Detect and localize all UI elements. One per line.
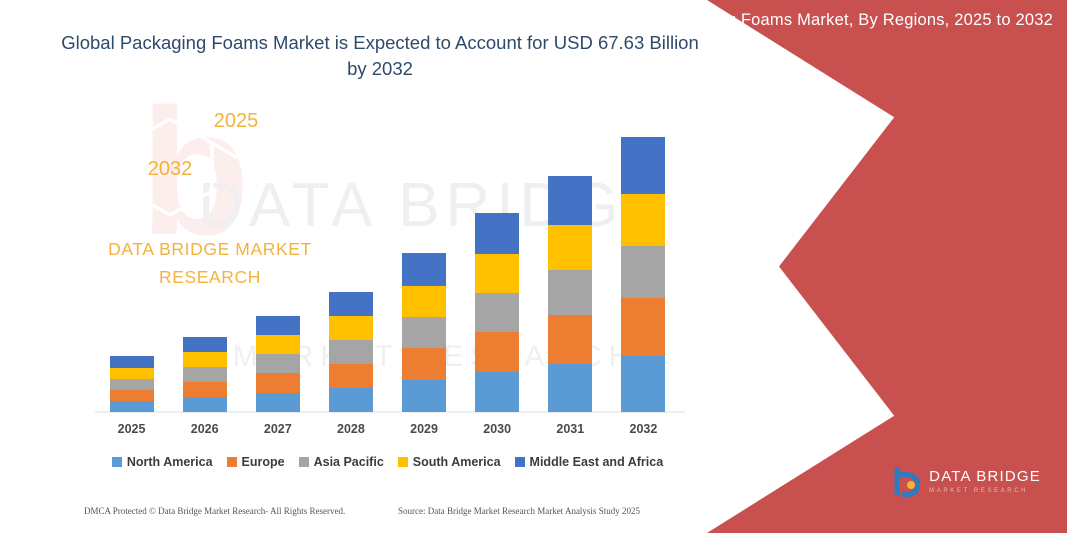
stacked-bar	[402, 253, 446, 412]
bar-segment	[621, 246, 665, 298]
bar-segment	[621, 356, 665, 412]
legend-item[interactable]: Middle East and Africa	[515, 455, 664, 469]
hexagon-2032-label: 2032	[148, 158, 193, 180]
bar-segment	[402, 380, 446, 412]
x-axis-label-2029: 2029	[388, 422, 461, 436]
right-panel	[707, 0, 1067, 533]
dbmr-logo-icon	[890, 465, 920, 497]
brand-name-text: DATA BRIDGE MARKET RESEARCH	[108, 239, 312, 287]
bar-column-2030	[461, 120, 534, 412]
bar-column-2032	[607, 120, 680, 412]
bar-segment	[475, 332, 519, 372]
bar-segment	[402, 348, 446, 380]
bar-segment	[402, 253, 446, 286]
bar-segment	[621, 137, 665, 194]
bar-segment	[475, 213, 519, 254]
dbmr-logo-text: DATA BRIDGE MARKET RESEARCH	[929, 469, 1041, 494]
bar-segment	[621, 194, 665, 246]
legend-label: South America	[413, 455, 501, 469]
legend-swatch-icon	[515, 457, 525, 467]
bar-segment	[548, 364, 592, 412]
x-axis-label-2030: 2030	[461, 422, 534, 436]
bar-segment	[475, 293, 519, 332]
bar-segment	[548, 315, 592, 364]
dbmr-logo-sub: MARKET RESEARCH	[929, 488, 1041, 494]
hexagon-2025-label: 2025	[214, 110, 259, 132]
legend-label: Middle East and Africa	[530, 455, 664, 469]
bar-segment	[402, 286, 446, 317]
footer-source: Source: Data Bridge Market Research Mark…	[398, 506, 640, 516]
stacked-bar	[475, 213, 519, 412]
stacked-bar	[548, 176, 592, 412]
x-axis-label-2031: 2031	[534, 422, 607, 436]
dbmr-logo-main: DATA BRIDGE	[929, 469, 1041, 484]
bar-segment	[548, 176, 592, 225]
bar-segment	[475, 254, 519, 293]
legend-item[interactable]: South America	[398, 455, 501, 469]
bar-segment	[621, 298, 665, 356]
bar-segment	[548, 270, 592, 315]
brand-name: DATA BRIDGE MARKET RESEARCH	[60, 235, 360, 291]
legend-swatch-icon	[398, 457, 408, 467]
bar-column-2031	[534, 120, 607, 412]
x-axis-label-2032: 2032	[607, 422, 680, 436]
bar-segment	[548, 225, 592, 270]
bar-column-2029	[388, 120, 461, 412]
infographic-root: b DATA BRIDGE MARKET RESEARCH Global Pac…	[0, 0, 1067, 533]
stacked-bar	[621, 137, 665, 412]
bar-segment	[475, 372, 519, 412]
dbmr-logo: DATA BRIDGE MARKET RESEARCH	[890, 465, 1041, 497]
bar-segment	[402, 317, 446, 348]
